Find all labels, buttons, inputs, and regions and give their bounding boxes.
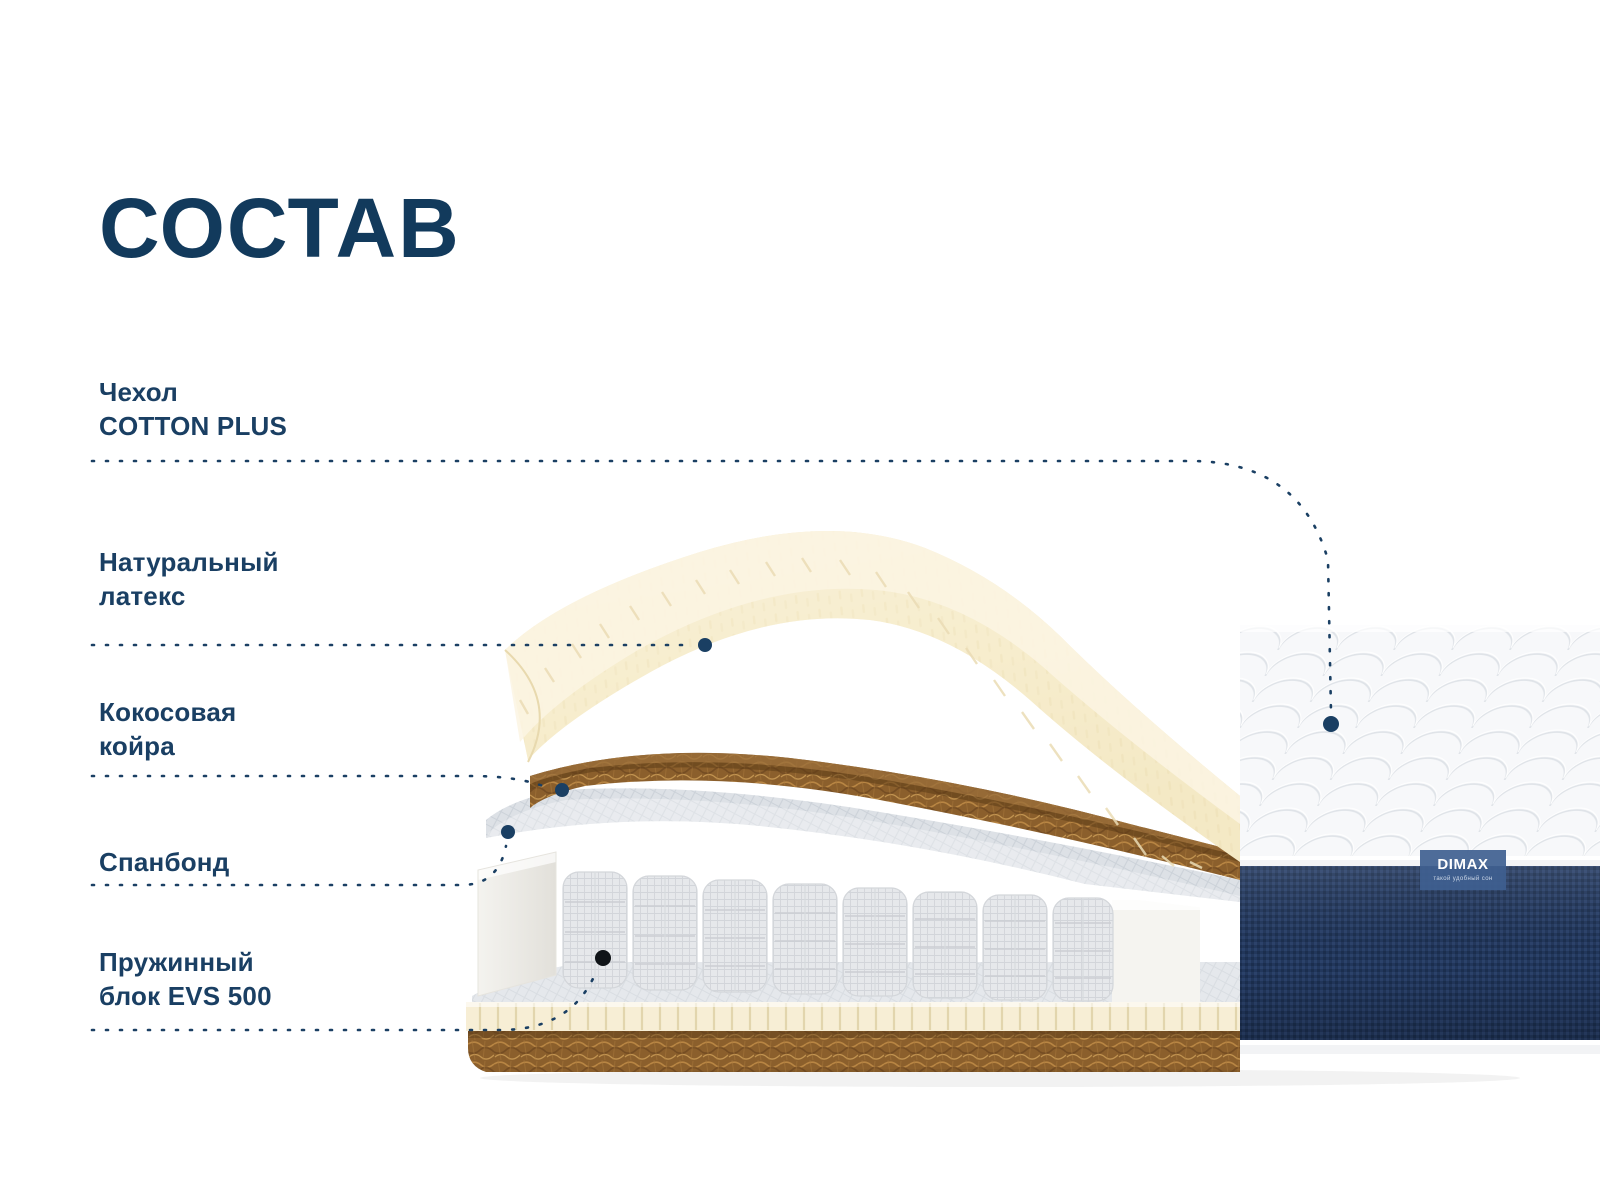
poster-canvas: СОСТАВ Чехол COTTON PLUS Натуральный лат… — [0, 0, 1600, 1201]
bottom-latex-layer — [466, 1002, 1240, 1031]
mattress-cutaway-illustration: DIMAX такой удобный сон — [0, 0, 1600, 1201]
brand-sublabel: такой удобный сон — [1433, 875, 1492, 882]
brand-label: DIMAX — [1437, 856, 1488, 873]
quilted-cover-layer — [1230, 618, 1600, 868]
bottom-coir-layer — [468, 1030, 1240, 1072]
side-panel: DIMAX такой удобный сон — [1240, 850, 1600, 1054]
brand-patch: DIMAX такой удобный сон — [1420, 850, 1506, 890]
